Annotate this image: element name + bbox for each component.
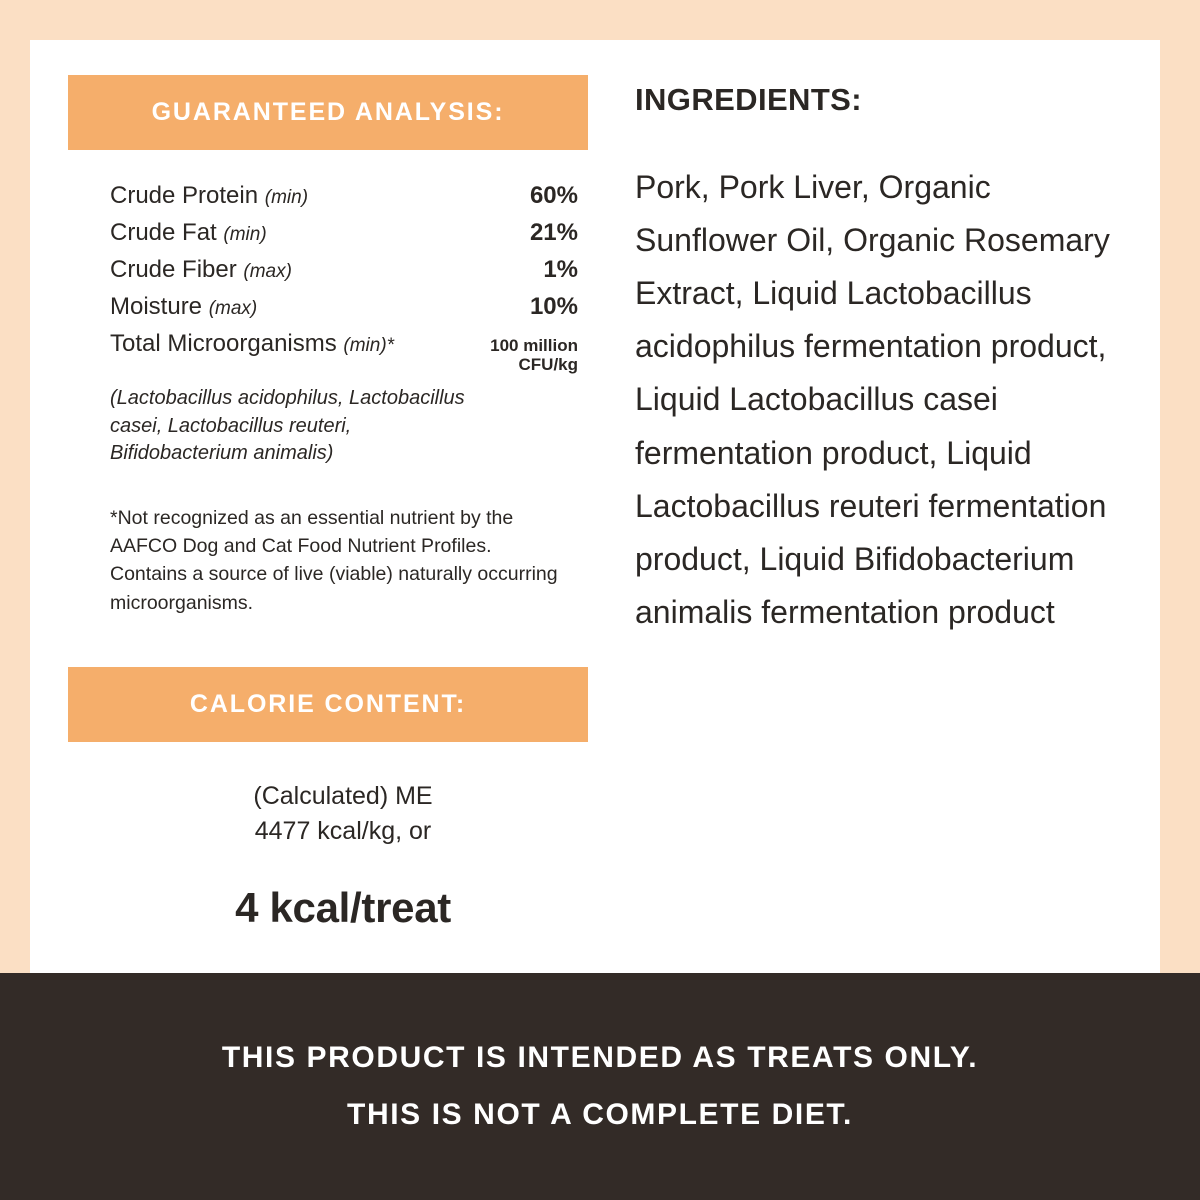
nutrient-qualifier: (min)	[265, 187, 308, 208]
label-columns: GUARANTEED ANALYSIS: Crude Protein (min)…	[30, 40, 1160, 973]
nutrient-qualifier: (max)	[209, 298, 258, 319]
nutrient-qualifier: (min)*	[343, 335, 394, 356]
nutrient-value: 10%	[530, 293, 578, 321]
calorie-content-body: (Calculated) ME 4477 kcal/kg, or 4 kcal/…	[68, 779, 588, 932]
table-row: Crude Fat (min) 21%	[110, 219, 578, 247]
nutrient-value: 100 millionCFU/kg	[490, 336, 578, 374]
calorie-content-header-bar: CALORIE CONTENT:	[68, 667, 588, 742]
nutrient-qualifier: (min)	[223, 224, 266, 245]
nutrient-label: Moisture (max)	[110, 293, 257, 321]
guaranteed-analysis-table: Crude Protein (min) 60% Crude Fat (min) …	[68, 182, 588, 374]
table-row: Crude Fiber (max) 1%	[110, 256, 578, 284]
ingredients-text: Pork, Pork Liver, Organic Sunflower Oil,…	[635, 161, 1125, 639]
nutrient-label: Total Microorganisms (min)*	[110, 330, 394, 358]
disclaimer-line-2: THIS IS NOT A COMPLETE DIET.	[347, 1100, 853, 1130]
nutrient-value: 21%	[530, 219, 578, 247]
nutrient-label: Crude Fiber (max)	[110, 256, 292, 284]
guaranteed-analysis-heading: GUARANTEED ANALYSIS:	[152, 98, 505, 127]
nutrient-value: 1%	[543, 256, 578, 284]
calorie-content-heading: CALORIE CONTENT:	[190, 690, 466, 719]
table-row: Moisture (max) 10%	[110, 293, 578, 321]
nutrient-value: 60%	[530, 182, 578, 210]
disclaimer-line-1: THIS PRODUCT IS INTENDED AS TREATS ONLY.	[222, 1043, 978, 1073]
ingredients-heading: INGREDIENTS:	[635, 82, 1125, 118]
table-row: Total Microorganisms (min)* 100 millionC…	[110, 330, 578, 374]
disclaimer-footer: THIS PRODUCT IS INTENDED AS TREATS ONLY.…	[0, 973, 1200, 1200]
guaranteed-analysis-section: GUARANTEED ANALYSIS: Crude Protein (min)…	[68, 75, 588, 932]
guaranteed-analysis-header-bar: GUARANTEED ANALYSIS:	[68, 75, 588, 150]
calorie-method-line: (Calculated) ME	[98, 779, 588, 815]
calorie-per-treat-value: 4 kcal/treat	[98, 884, 588, 932]
nutrient-qualifier: (max)	[243, 261, 292, 282]
aafco-footnote: *Not recognized as an essential nutrient…	[68, 504, 572, 617]
nutrient-label: Crude Protein (min)	[110, 182, 308, 210]
ingredients-section: INGREDIENTS: Pork, Pork Liver, Organic S…	[635, 82, 1125, 639]
label-card: GUARANTEED ANALYSIS: Crude Protein (min)…	[30, 40, 1160, 973]
table-row: Crude Protein (min) 60%	[110, 182, 578, 210]
nutrient-label: Crude Fat (min)	[110, 219, 267, 247]
probiotic-strain-list: (Lactobacillus acidophilus, Lactobacillu…	[68, 385, 480, 468]
calorie-per-kg-line: 4477 kcal/kg, or	[98, 814, 588, 850]
